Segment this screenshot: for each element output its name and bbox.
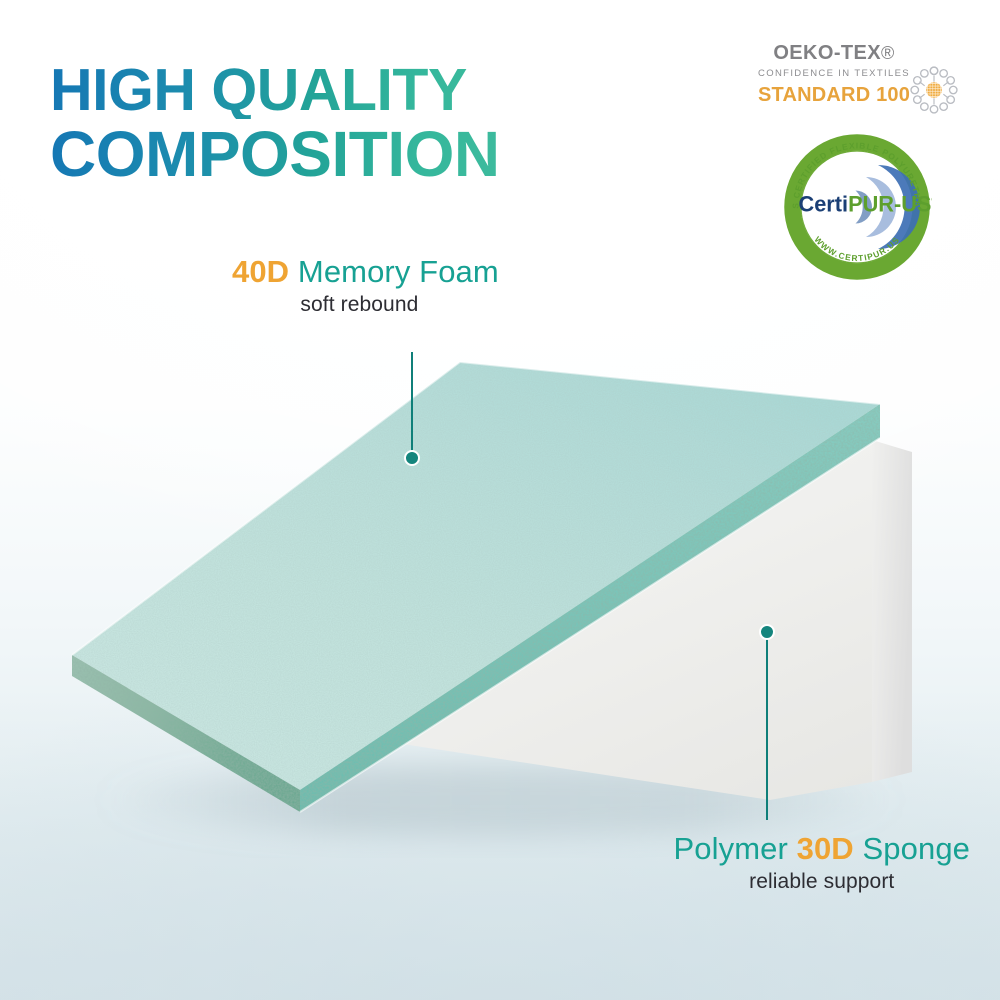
callout-polymer-sponge-suffix: Sponge bbox=[863, 831, 970, 866]
certification-badges: OEKO-TEX® CONFIDENCE IN TEXTILES STANDAR… bbox=[758, 36, 972, 120]
oeko-tex-standard: STANDARD 100 bbox=[758, 84, 910, 107]
leader-dot bbox=[404, 450, 420, 466]
callout-memory-foam-title: 40D Memory Foam bbox=[232, 255, 499, 290]
page-title: HIGH QUALITY COMPOSITION bbox=[50, 62, 500, 185]
callout-polymer-sponge-density: 30D bbox=[797, 831, 854, 866]
oeko-tex-center-dot bbox=[926, 82, 942, 98]
callout-memory-foam: 40D Memory Foam soft rebound bbox=[232, 255, 499, 317]
oeko-tex-flower-icon bbox=[908, 64, 960, 116]
callout-polymer-sponge-subtitle: reliable support bbox=[674, 870, 971, 894]
oeko-tex-title: OEKO-TEX® bbox=[758, 42, 910, 65]
callout-polymer-sponge-prefix: Polymer bbox=[674, 831, 788, 866]
headline-line-2: COMPOSITION bbox=[50, 123, 500, 185]
callout-memory-foam-subtitle: soft rebound bbox=[220, 293, 499, 317]
callout-polymer-sponge-title: Polymer 30D Sponge bbox=[674, 832, 971, 867]
certipur-us-badge: CONTAINS CERTIFIED FLEXIBLE POLYURETHANE… bbox=[782, 132, 932, 282]
leader-dot bbox=[759, 624, 775, 640]
headline-line-1: HIGH QUALITY bbox=[50, 62, 500, 119]
leader-stem bbox=[411, 352, 413, 458]
oeko-tex-title-text: OEKO-TEX bbox=[773, 42, 881, 64]
product-infographic-canvas: HIGH QUALITY COMPOSITION OEKO-TEX® CONFI… bbox=[0, 0, 1000, 1000]
callout-polymer-sponge: Polymer 30D Sponge reliable support bbox=[674, 832, 971, 894]
callout-memory-foam-name: Memory Foam bbox=[298, 254, 499, 289]
oeko-tex-text-block: OEKO-TEX® CONFIDENCE IN TEXTILES STANDAR… bbox=[758, 42, 910, 107]
callout-memory-foam-density: 40D bbox=[232, 254, 289, 289]
certipur-wordmark: CertiPUR-US® bbox=[799, 192, 933, 217]
leader-stem bbox=[766, 634, 768, 820]
polymer-sponge-right-face bbox=[872, 440, 912, 782]
oeko-tex-subtitle: CONFIDENCE IN TEXTILES bbox=[758, 68, 910, 79]
registered-trademark-icon: ® bbox=[881, 43, 895, 63]
oeko-tex-badge: OEKO-TEX® CONFIDENCE IN TEXTILES STANDAR… bbox=[758, 36, 972, 120]
